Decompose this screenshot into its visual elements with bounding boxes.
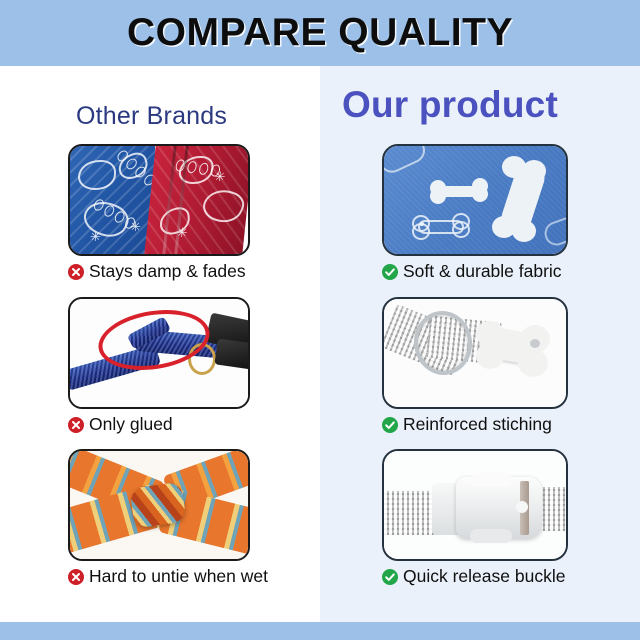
buckle-top-tab	[470, 473, 512, 487]
caption-row: Reinforced stiching	[382, 416, 640, 434]
image-release-buckle	[382, 449, 568, 561]
x-circle-icon	[68, 569, 84, 585]
caption-row: Hard to untie when wet	[68, 568, 320, 586]
caption-text: Stays damp & fades	[89, 263, 246, 281]
list-item: Hard to untie when wet	[0, 449, 320, 586]
caption-text: Quick release buckle	[403, 568, 565, 586]
caption-row: Soft & durable fabric	[382, 263, 640, 281]
column-our-product: Our product	[320, 66, 640, 622]
fabric-fold	[162, 146, 176, 254]
page-title: COMPARE QUALITY	[127, 11, 513, 55]
bone-knob	[512, 220, 536, 242]
list-item: Reinforced stiching	[320, 297, 640, 434]
buckle-bottom-tab	[470, 529, 512, 543]
blue-bandana-half: ✳ ✳	[70, 146, 155, 254]
release-buckle-art	[384, 451, 566, 559]
black-buckle	[214, 338, 250, 369]
star-motif: ✳	[214, 170, 226, 183]
bone-knob	[430, 188, 446, 204]
image-bone-fabric	[382, 144, 568, 256]
caption-row: Stays damp & fades	[68, 263, 320, 281]
stitched-dring-art	[384, 299, 566, 407]
caption-text: Reinforced stiching	[403, 416, 552, 434]
comparison-columns: Other Brands ✳ ✳	[0, 66, 640, 622]
column-other-brands: Other Brands ✳ ✳	[0, 66, 320, 622]
star-motif: ✳	[90, 230, 101, 243]
bone-outline-knob	[452, 221, 470, 238]
x-circle-icon	[68, 417, 84, 433]
list-item: Quick release buckle	[320, 449, 640, 586]
bone-fabric-art	[384, 146, 566, 254]
caption-row: Quick release buckle	[382, 568, 640, 586]
list-item: ✳ ✳ ✳ ✳	[0, 144, 320, 281]
image-bandana-fabric: ✳ ✳ ✳ ✳	[68, 144, 250, 256]
caption-text: Soft & durable fabric	[403, 263, 562, 281]
bone-knob	[472, 186, 488, 202]
bone-tag-knob	[476, 343, 504, 369]
image-glued-strap	[68, 297, 250, 409]
our-product-item-list: Soft & durable fabric	[320, 66, 640, 622]
caption-text: Hard to untie when wet	[89, 568, 268, 586]
caption-text: Only glued	[89, 416, 173, 434]
compare-quality-poster: COMPARE QUALITY Other Brands	[0, 0, 640, 640]
bone-outline-knob	[412, 223, 430, 240]
image-plaid-knot	[68, 449, 250, 561]
glued-strap-art	[70, 299, 248, 407]
buckle-highlight	[516, 501, 528, 513]
paisley-motif	[199, 185, 249, 228]
image-reinforced-stitching	[382, 297, 568, 409]
list-item: Soft & durable fabric	[320, 144, 640, 281]
bandana-art: ✳ ✳ ✳ ✳	[70, 146, 248, 254]
caption-row: Only glued	[68, 416, 320, 434]
other-brands-item-list: ✳ ✳ ✳ ✳	[0, 66, 320, 622]
plaid-knot-art	[70, 451, 248, 559]
check-circle-icon	[382, 264, 398, 280]
x-circle-icon	[68, 264, 84, 280]
paisley-motif	[78, 160, 116, 190]
bone-outline-shape	[541, 211, 568, 249]
star-motif: ✳	[130, 220, 141, 233]
bone-tag-hole	[530, 339, 540, 348]
check-circle-icon	[382, 417, 398, 433]
footer-band	[0, 622, 640, 640]
bone-knob	[522, 160, 546, 182]
bone-outline-shape	[382, 144, 429, 177]
bone-tag-knob	[518, 349, 548, 377]
list-item: Only glued	[0, 297, 320, 434]
red-bandana-half: ✳ ✳	[144, 146, 250, 254]
header-band: COMPARE QUALITY	[0, 0, 640, 66]
check-circle-icon	[382, 569, 398, 585]
